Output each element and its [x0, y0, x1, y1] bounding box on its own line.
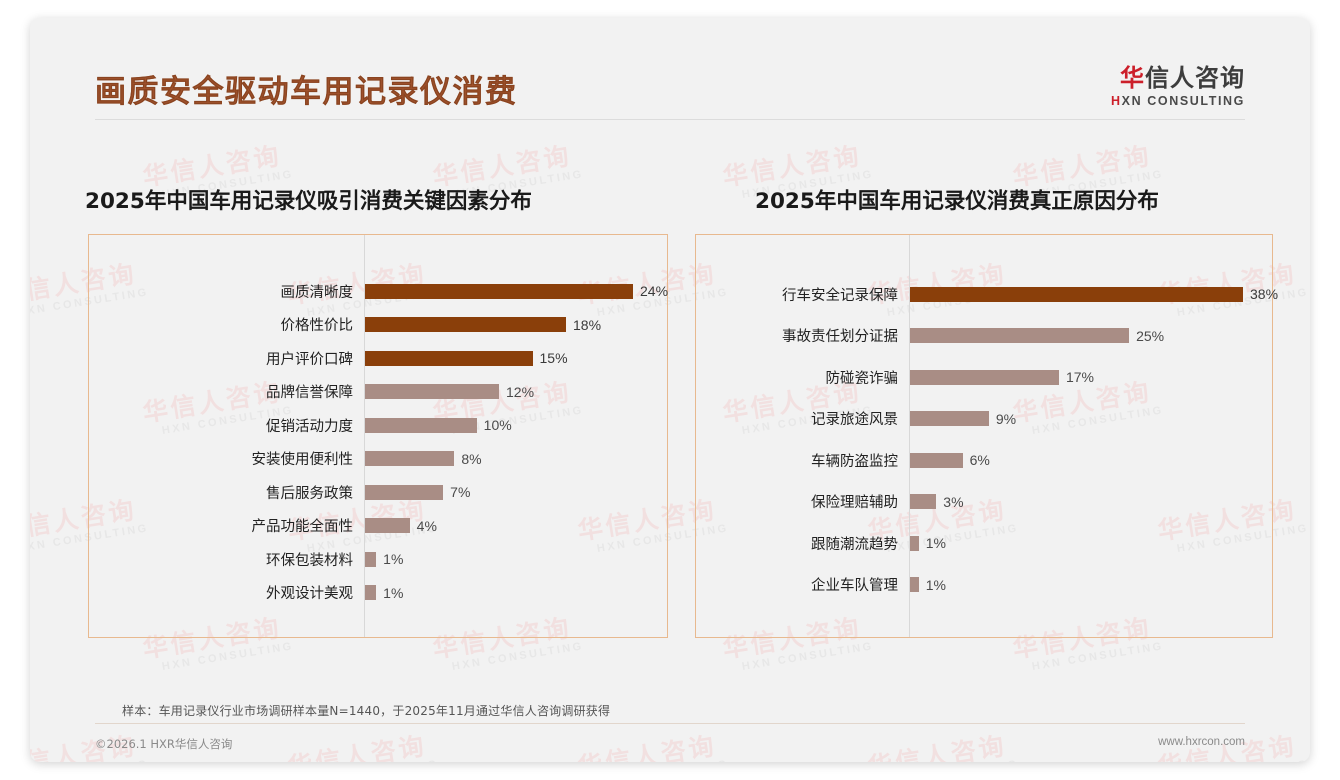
- bar-value-label: 7%: [450, 484, 470, 500]
- slide-header: 画质安全驱动车用记录仪消费 华信人咨询 HXN CONSULTING: [30, 18, 1310, 110]
- bar-value-label: 8%: [461, 451, 481, 467]
- chart-bar-row: 促销活动力度10%: [365, 414, 512, 436]
- bar-value-label: 1%: [383, 551, 403, 567]
- bar-value-label: 38%: [1250, 286, 1278, 302]
- bar-rect: [365, 585, 376, 600]
- bar-value-label: 1%: [926, 577, 946, 593]
- bar-rect: [365, 518, 410, 533]
- bar-category-label: 防碰瓷诈骗: [826, 367, 899, 388]
- chart-bar-row: 企业车队管理1%: [910, 574, 946, 596]
- bar-category-label: 记录旅途风景: [811, 408, 898, 429]
- chart-bar-row: 产品功能全面性4%: [365, 515, 437, 537]
- bar-category-label: 产品功能全面性: [252, 515, 354, 536]
- page-title: 画质安全驱动车用记录仪消费: [95, 66, 518, 111]
- bar-category-label: 价格性价比: [281, 314, 354, 335]
- bar-category-label: 品牌信誉保障: [266, 381, 353, 402]
- chart-bar-row: 售后服务政策7%: [365, 481, 470, 503]
- logo-english-rest: XN CONSULTING: [1122, 94, 1245, 108]
- bar-value-label: 6%: [970, 452, 990, 468]
- bar-value-label: 10%: [484, 417, 512, 433]
- footer-divider: [95, 723, 1245, 724]
- bar-rect: [365, 485, 443, 500]
- slide-footer: ©2026.1 HXR华信人咨询 www.hxrcon.com: [30, 732, 1310, 760]
- website-text: www.hxrcon.com: [1158, 736, 1245, 748]
- chart-bars-left: 画质清晰度24%价格性价比18%用户评价口碑15%品牌信誉保障12%促销活动力度…: [89, 235, 667, 637]
- bar-rect: [365, 418, 477, 433]
- sample-footnote: 样本：车用记录仪行业市场调研样本量N=1440，于2025年11月通过华信人咨询…: [122, 702, 610, 719]
- header-divider: [95, 119, 1245, 120]
- bar-category-label: 安装使用便利性: [252, 448, 354, 469]
- chart-bar-row: 环保包装材料1%: [365, 548, 403, 570]
- logo-hua-char: 华: [1120, 64, 1145, 92]
- bar-category-label: 外观设计美观: [266, 582, 353, 603]
- slide-canvas: 华信人咨询HXN CONSULTING华信人咨询HXN CONSULTING华信…: [30, 18, 1310, 762]
- chart-bar-row: 记录旅途风景9%: [910, 408, 1016, 430]
- bar-rect: [910, 287, 1243, 302]
- bar-rect: [910, 536, 919, 551]
- bar-value-label: 12%: [506, 384, 534, 400]
- bar-rect: [910, 577, 919, 592]
- bar-rect: [365, 451, 454, 466]
- bar-rect: [365, 552, 376, 567]
- bar-rect: [365, 384, 499, 399]
- bar-value-label: 15%: [540, 350, 568, 366]
- bar-category-label: 车辆防盗监控: [811, 450, 898, 471]
- bar-category-label: 用户评价口碑: [266, 348, 353, 369]
- bar-rect: [910, 411, 989, 426]
- bar-category-label: 跟随潮流趋势: [811, 533, 898, 554]
- bar-category-label: 行车安全记录保障: [782, 284, 898, 305]
- bar-rect: [365, 351, 533, 366]
- bar-value-label: 1%: [383, 585, 403, 601]
- bar-rect: [910, 494, 936, 509]
- brand-logo: 华信人咨询 HXN CONSULTING: [1111, 66, 1245, 108]
- bar-category-label: 画质清晰度: [281, 281, 354, 302]
- bar-value-label: 3%: [943, 494, 963, 510]
- bar-category-label: 环保包装材料: [266, 549, 353, 570]
- chart-panel-left: 画质清晰度24%价格性价比18%用户评价口碑15%品牌信誉保障12%促销活动力度…: [88, 234, 668, 638]
- chart-bar-row: 行车安全记录保障38%: [910, 283, 1278, 305]
- bar-rect: [910, 453, 963, 468]
- bar-value-label: 25%: [1136, 328, 1164, 344]
- chart-title-right: 2025年中国车用记录仪消费真正原因分布: [755, 184, 1159, 215]
- chart-bars-right: 行车安全记录保障38%事故责任划分证据25%防碰瓷诈骗17%记录旅途风景9%车辆…: [696, 235, 1272, 637]
- charts-area: 2025年中国车用记录仪吸引消费关键因素分布 2025年中国车用记录仪消费真正原…: [30, 18, 1310, 762]
- chart-bar-row: 品牌信誉保障12%: [365, 381, 534, 403]
- logo-chinese: 华信人咨询: [1111, 66, 1245, 91]
- bar-value-label: 18%: [573, 317, 601, 333]
- bar-category-label: 售后服务政策: [266, 482, 353, 503]
- bar-rect: [910, 328, 1129, 343]
- bar-value-label: 4%: [417, 518, 437, 534]
- bar-category-label: 事故责任划分证据: [782, 325, 898, 346]
- bar-category-label: 企业车队管理: [811, 574, 898, 595]
- bar-value-label: 17%: [1066, 369, 1094, 385]
- logo-h-char: H: [1111, 94, 1122, 108]
- chart-bar-row: 画质清晰度24%: [365, 280, 668, 302]
- bar-value-label: 1%: [926, 535, 946, 551]
- chart-bar-row: 跟随潮流趋势1%: [910, 532, 946, 554]
- bar-category-label: 保险理赔辅助: [811, 491, 898, 512]
- chart-title-left: 2025年中国车用记录仪吸引消费关键因素分布: [85, 184, 532, 215]
- logo-chinese-rest: 信人咨询: [1145, 64, 1245, 92]
- chart-bar-row: 用户评价口碑15%: [365, 347, 568, 369]
- bar-rect: [365, 317, 566, 332]
- bar-rect: [910, 370, 1059, 385]
- bar-value-label: 9%: [996, 411, 1016, 427]
- chart-bar-row: 车辆防盗监控6%: [910, 449, 990, 471]
- copyright-text: ©2026.1 HXR华信人咨询: [95, 736, 232, 752]
- chart-bar-row: 防碰瓷诈骗17%: [910, 366, 1094, 388]
- chart-bar-row: 安装使用便利性8%: [365, 448, 482, 470]
- bar-value-label: 24%: [640, 283, 668, 299]
- chart-bar-row: 外观设计美观1%: [365, 582, 403, 604]
- bar-rect: [365, 284, 633, 299]
- logo-english: HXN CONSULTING: [1111, 94, 1245, 108]
- chart-bar-row: 价格性价比18%: [365, 314, 601, 336]
- bar-category-label: 促销活动力度: [266, 415, 353, 436]
- chart-bar-row: 事故责任划分证据25%: [910, 325, 1164, 347]
- chart-panel-right: 行车安全记录保障38%事故责任划分证据25%防碰瓷诈骗17%记录旅途风景9%车辆…: [695, 234, 1273, 638]
- chart-bar-row: 保险理赔辅助3%: [910, 491, 964, 513]
